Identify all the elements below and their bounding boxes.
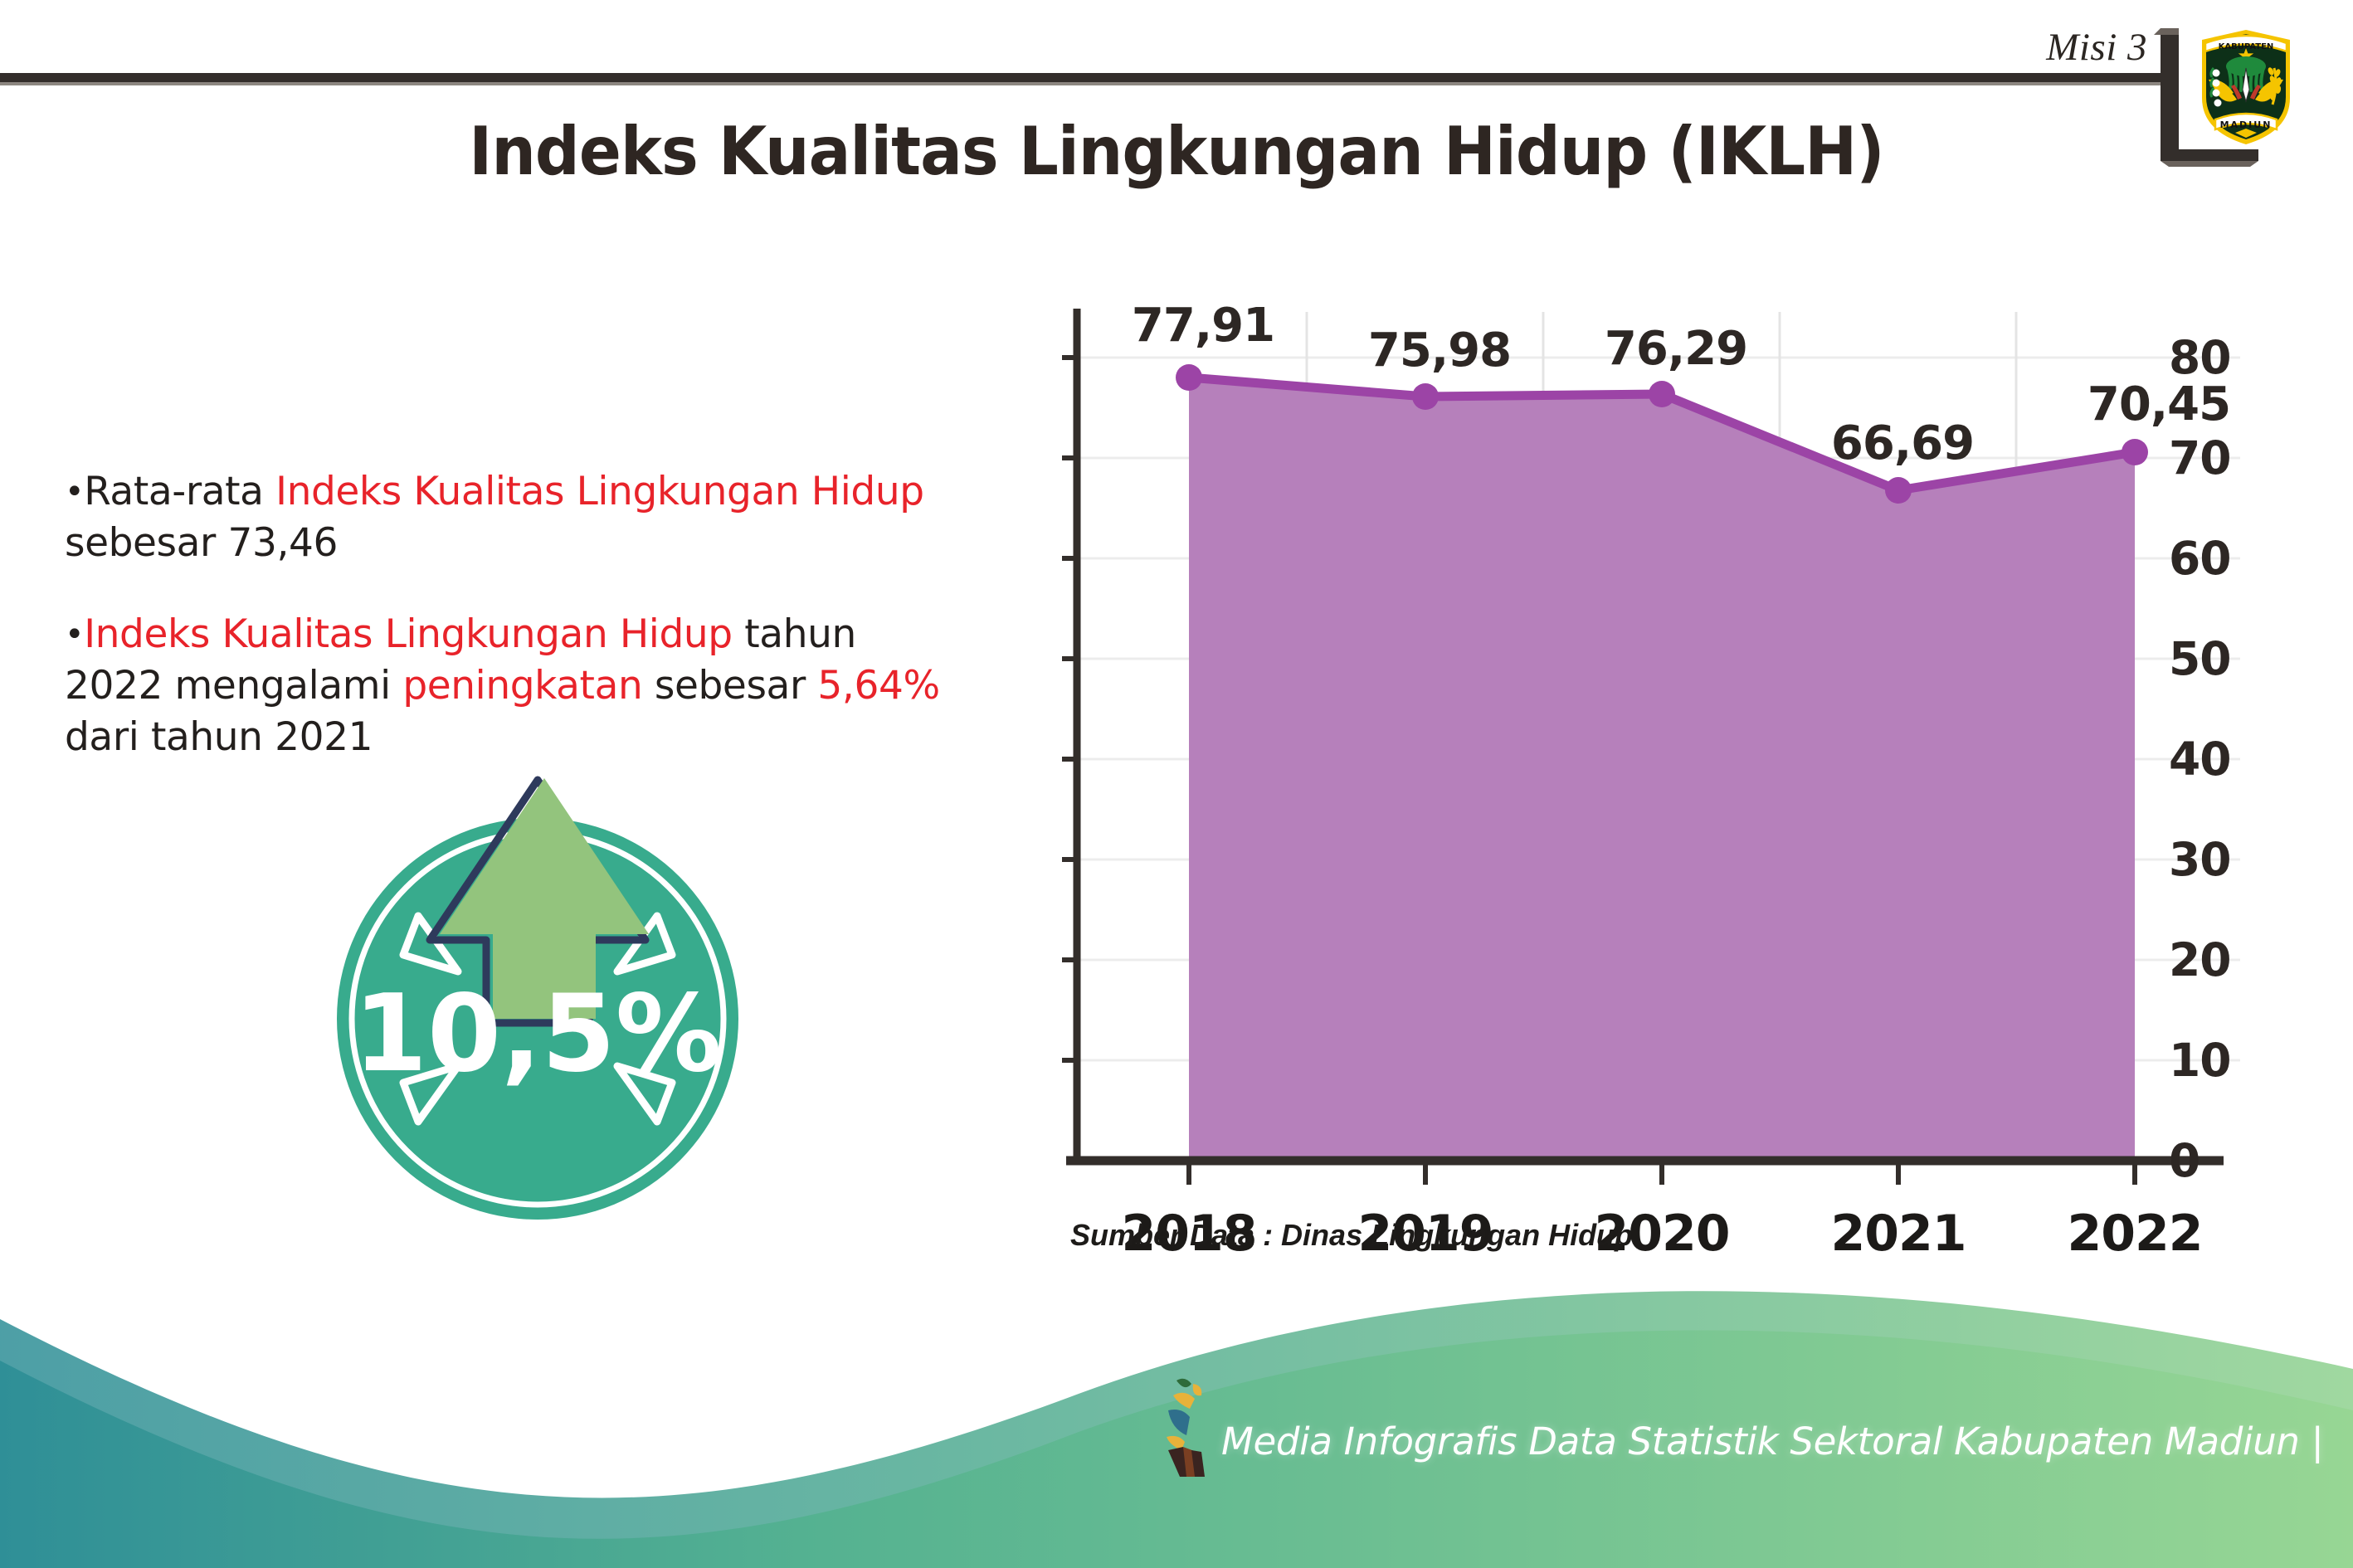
list-item: •Indeks Kualitas Lingkungan Hidup tahun …	[65, 609, 944, 763]
badge-value: 10,5%	[353, 972, 722, 1096]
bullet-dot-icon: •	[65, 473, 84, 511]
summary-bullet-list: •Rata-rata Indeks Kualitas Lingkungan Hi…	[65, 466, 944, 803]
mission-label: Misi 3	[2046, 25, 2147, 70]
y-tick-label: 20	[2169, 933, 2240, 986]
bullet-text-segment: sebesar	[642, 663, 817, 709]
page-title: Indeks Kualitas Lingkungan Hidup (IKLH)	[71, 113, 2282, 190]
chart-area-fill	[1189, 377, 2135, 1161]
bullet-dot-icon: •	[65, 616, 84, 654]
bullet-text-segment-highlight: Indeks Kualitas Lingkungan Hidup	[84, 611, 733, 657]
header-divider-rule	[0, 73, 2163, 82]
y-tick-label: 0	[2169, 1134, 2240, 1187]
data-value-label: 70,45	[2087, 377, 2230, 431]
y-tick-label: 70	[2169, 431, 2240, 485]
y-tick-label: 50	[2169, 632, 2240, 685]
increase-badge: 10,5%	[330, 762, 745, 1226]
bullet-text-segment-highlight: peningkatan	[402, 663, 642, 709]
y-tick-label: 10	[2169, 1034, 2240, 1087]
bullet-text-segment-highlight: 5,64%	[817, 663, 939, 709]
media-infografis-logo-icon	[1143, 1374, 1230, 1482]
data-value-label: 77,91	[1132, 299, 1274, 353]
bullet-text-segment: dari tahun 2021	[65, 714, 373, 760]
iklh-area-chart: 0 10 20 30 40 50 60 70 80 2018 2019 2020…	[979, 274, 2240, 1269]
list-item: •Rata-rata Indeks Kualitas Lingkungan Hi…	[65, 466, 944, 569]
data-value-label: 66,69	[1831, 416, 1974, 470]
chart-source-note: Sumber Data : Dinas Lingkungan Hidup	[1070, 1218, 1633, 1253]
bullet-text-segment-highlight: Indeks Kualitas Lingkungan Hidup	[275, 469, 924, 514]
bullet-text-segment: sebesar 73,46	[65, 520, 338, 566]
y-tick-label: 40	[2169, 733, 2240, 786]
chart-canvas	[979, 274, 2240, 1269]
y-tick-label: 30	[2169, 833, 2240, 886]
footer-caption: Media Infografis Data Statistik Sektoral…	[1221, 1419, 2324, 1463]
x-tick-label: 2021	[1831, 1205, 1966, 1263]
bullet-text-segment: Rata-rata	[84, 469, 275, 514]
data-value-label: 76,29	[1605, 322, 1747, 376]
y-tick-label: 80	[2169, 331, 2240, 384]
x-tick-label: 2022	[2068, 1205, 2203, 1263]
data-value-label: 75,98	[1368, 324, 1511, 377]
y-tick-label: 60	[2169, 532, 2240, 585]
